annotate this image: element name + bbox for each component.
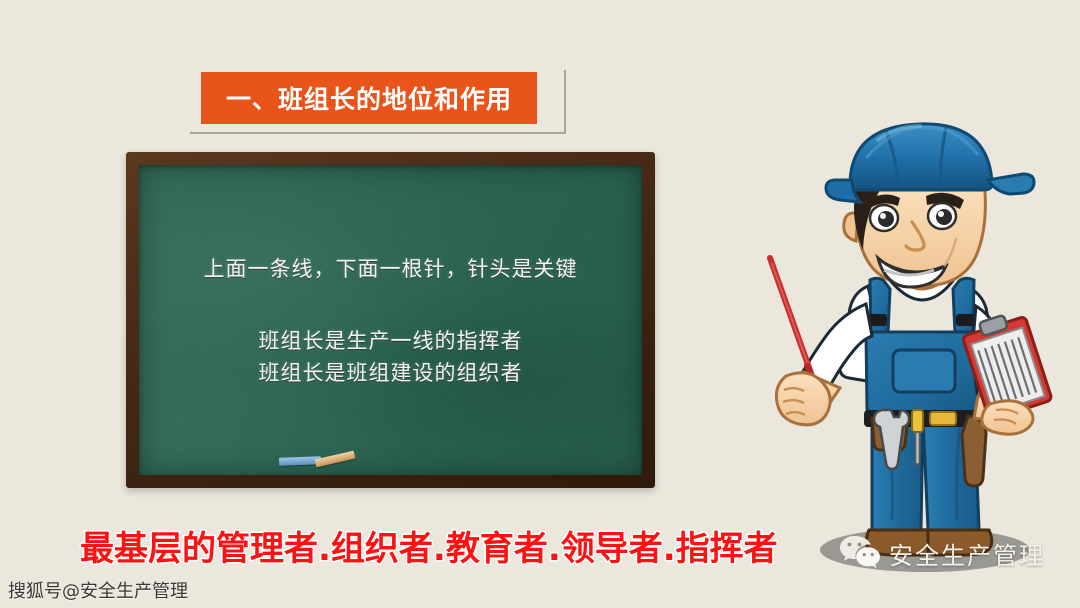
overalls-strap-left	[870, 278, 890, 335]
safety-worker-illustration	[760, 118, 1080, 590]
decor-vertical-rule	[564, 70, 566, 134]
section-title-box: 一、班组长的地位和作用	[201, 72, 537, 124]
chalk-text-line-2: 班组长是生产一线的指挥者	[259, 325, 523, 355]
wechat-icon	[838, 534, 882, 572]
decor-horizontal-rule	[190, 132, 566, 134]
tan-chalk-icon	[315, 451, 356, 468]
blackboard-surface: 上面一条线，下面一根针，针头是关键 班组长是生产一线的指挥者 班组长是班组建设的…	[139, 165, 642, 475]
blackboard-frame: 上面一条线，下面一根针，针头是关键 班组长是生产一线的指挥者 班组长是班组建设的…	[126, 152, 655, 488]
slide-canvas: 一、班组长的地位和作用 上面一条线，下面一根针，针头是关键 班组长是生产一线的指…	[0, 0, 1080, 608]
hard-hat	[850, 124, 992, 190]
headline-text: 最基层的管理者.组织者.教育者.领导者.指挥者	[80, 521, 820, 570]
belt-buckle	[930, 412, 956, 425]
hat-brim-right	[988, 174, 1034, 194]
blackboard-texture	[139, 165, 642, 475]
eye-right	[928, 203, 956, 229]
chalk-text-line-1: 上面一条线，下面一根针，针头是关键	[204, 253, 578, 283]
wechat-watermark: 安全生产管理	[838, 534, 1045, 572]
bib-pocket	[893, 350, 955, 392]
overalls-strap-right	[953, 278, 974, 335]
left-hand	[982, 401, 1033, 434]
section-title-text: 一、班组长的地位和作用	[226, 80, 512, 116]
eye-left	[870, 205, 898, 231]
fist	[776, 373, 830, 425]
chalk-text-line-3: 班组长是班组建设的组织者	[259, 357, 523, 387]
wechat-account-name: 安全生产管理	[889, 536, 1045, 571]
sohu-watermark: 搜狐号@安全生产管理	[8, 577, 188, 603]
